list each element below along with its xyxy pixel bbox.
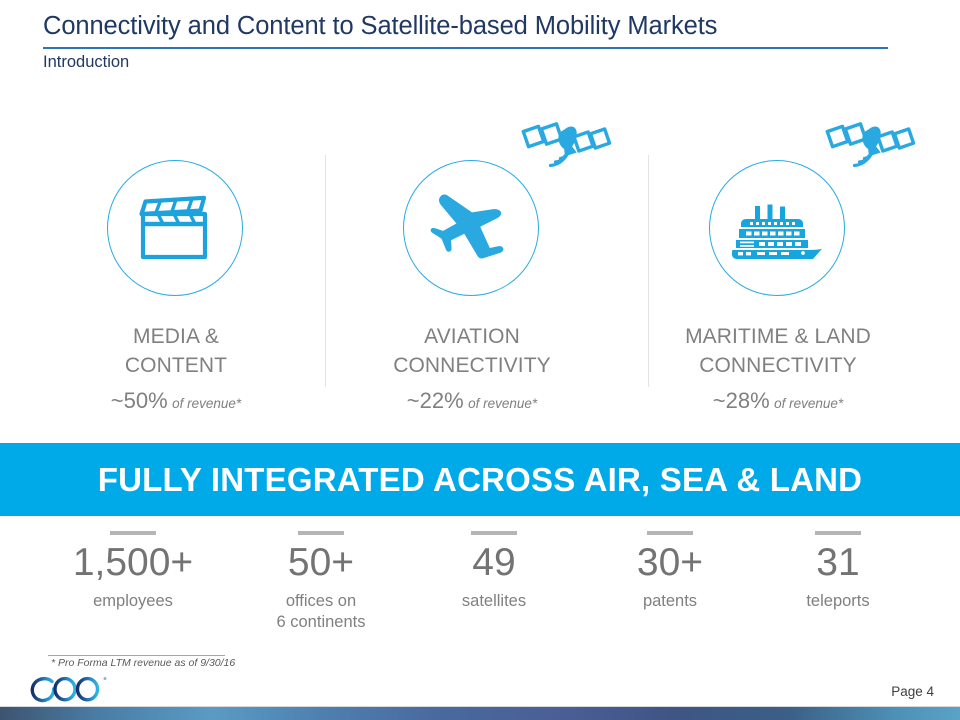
segment-maritime-land-connectivity[interactable]: MARITIME & LAND CONNECTIVITY ~28% of rev… (618, 100, 938, 430)
banner-headline: FULLY INTEGRATED ACROSS AIR, SEA & LAND (98, 461, 862, 499)
stats-row: 1,500+ employees 50+ offices on 6 contin… (0, 522, 960, 652)
slide-header: Connectivity and Content to Satellite-ba… (0, 0, 960, 90)
maritime-label-line1: MARITIME & LAND (618, 322, 938, 351)
footnote-rule (48, 655, 225, 656)
stat-teleports-label: teleports (758, 591, 918, 612)
aviation-label-line1: AVIATION (312, 322, 632, 351)
stat-patents-label-line1: patents (590, 591, 750, 612)
stat-offices: 50+ offices on 6 continents (232, 522, 410, 633)
stat-dash-icon (298, 531, 344, 535)
title-divider-rule (43, 47, 888, 49)
stat-employees: 1,500+ employees (40, 522, 226, 612)
integration-banner: FULLY INTEGRATED ACROSS AIR, SEA & LAND (0, 443, 960, 516)
stat-satellites: 49 satellites (412, 522, 576, 612)
page-number: Page 4 (891, 684, 934, 699)
stat-offices-label: offices on 6 continents (232, 591, 410, 633)
media-revenue-note: of revenue* (172, 396, 241, 411)
stat-teleports: 31 teleports (758, 522, 918, 612)
maritime-revenue-note: of revenue* (774, 396, 843, 411)
page-title: Connectivity and Content to Satellite-ba… (43, 12, 717, 41)
stat-offices-label-line2: 6 continents (232, 612, 410, 633)
footnote-text: * Pro Forma LTM revenue as of 9/30/16 (51, 657, 235, 669)
stat-teleports-label-line1: teleports (758, 591, 918, 612)
media-revenue-share: ~50% of revenue* (16, 388, 336, 414)
stat-employees-label: employees (40, 591, 226, 612)
cruise-ship-icon (729, 197, 825, 259)
stat-offices-value: 50+ (232, 539, 410, 587)
stat-dash-icon (471, 531, 517, 535)
stat-satellites-label-line1: satellites (412, 591, 576, 612)
segment-aviation-connectivity[interactable]: AVIATION CONNECTIVITY ~22% of revenue* (312, 100, 632, 430)
stat-patents-value: 30+ (590, 539, 750, 587)
maritime-revenue-percent: ~28% (713, 388, 770, 413)
aviation-label-line2: CONNECTIVITY (312, 351, 632, 380)
aviation-label: AVIATION CONNECTIVITY (312, 322, 632, 380)
aviation-icon-area (312, 160, 632, 300)
stat-employees-value: 1,500+ (40, 539, 226, 587)
maritime-label: MARITIME & LAND CONNECTIVITY (618, 322, 938, 380)
stat-dash-icon (815, 531, 861, 535)
media-label-line2: CONTENT (16, 351, 336, 380)
satellite-icon (823, 117, 919, 179)
page-subtitle: Introduction (43, 53, 129, 72)
aviation-revenue-note: of revenue* (468, 396, 537, 411)
aviation-icon-circle (403, 160, 539, 296)
maritime-revenue-share: ~28% of revenue* (618, 388, 938, 414)
aviation-revenue-percent: ~22% (407, 388, 464, 413)
stat-dash-icon (647, 531, 693, 535)
footer-gradient-bar (0, 707, 960, 720)
media-revenue-percent: ~50% (111, 388, 168, 413)
media-icon-circle (107, 160, 243, 296)
maritime-label-line2: CONNECTIVITY (618, 351, 938, 380)
gee-logo (27, 674, 111, 704)
media-label: MEDIA & CONTENT (16, 322, 336, 380)
stat-patents: 30+ patents (590, 522, 750, 612)
airplane-icon (427, 187, 515, 269)
segment-media-content[interactable]: MEDIA & CONTENT ~50% of revenue* (16, 100, 336, 430)
stat-employees-label-line1: employees (40, 591, 226, 612)
maritime-icon-area (618, 160, 938, 300)
stat-offices-label-line1: offices on (232, 591, 410, 612)
aviation-revenue-share: ~22% of revenue* (312, 388, 632, 414)
maritime-icon-circle (709, 160, 845, 296)
stat-teleports-value: 31 (758, 539, 918, 587)
stat-satellites-label: satellites (412, 591, 576, 612)
segments-row: MEDIA & CONTENT ~50% of revenue* (0, 100, 960, 430)
media-icon-area (16, 160, 336, 300)
stat-patents-label: patents (590, 591, 750, 612)
stat-satellites-value: 49 (412, 539, 576, 587)
media-label-line1: MEDIA & (16, 322, 336, 351)
clapperboard-icon (134, 195, 216, 261)
stat-dash-icon (110, 531, 156, 535)
satellite-icon (519, 117, 615, 179)
